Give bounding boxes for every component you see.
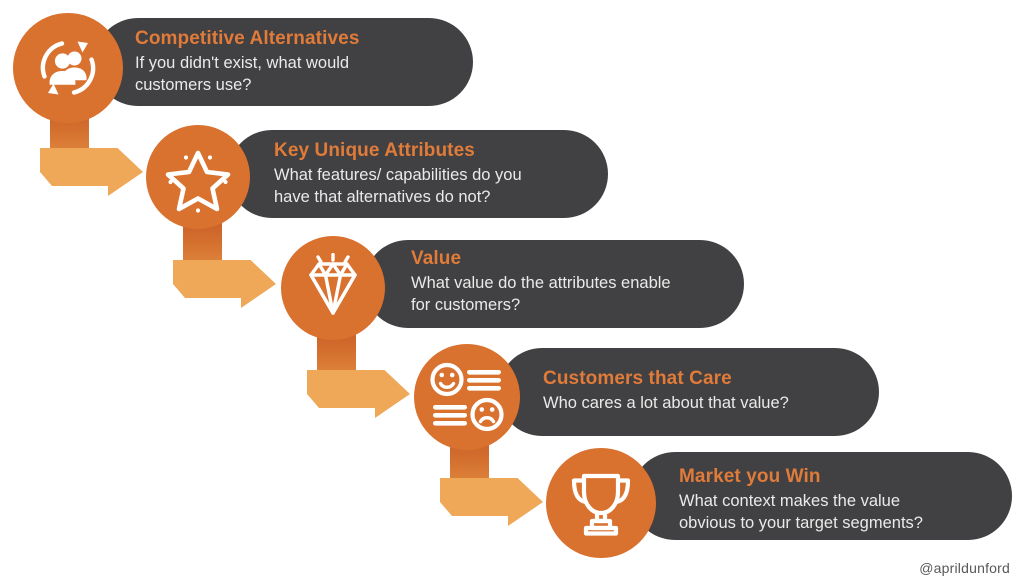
step-badge-2 — [146, 125, 250, 229]
step-title-4: Customers that Care — [543, 368, 873, 390]
step-title-5: Market you Win — [679, 466, 1019, 488]
step-title-2: Key Unique Attributes — [274, 140, 604, 162]
step-body-3: What value do the attributes enable for … — [411, 272, 751, 316]
trophy-icon — [564, 466, 638, 540]
step-badge-3 — [281, 236, 385, 340]
connector-arrow-3 — [307, 370, 410, 418]
step-text-4: Customers that Care Who cares a lot abou… — [543, 368, 873, 414]
step-badge-4 — [414, 344, 520, 450]
step-body-4: Who cares a lot about that value? — [543, 392, 873, 414]
step-title-1: Competitive Alternatives — [135, 28, 465, 50]
author-handle: @aprildunford — [919, 560, 1010, 576]
connector-arrow-1 — [40, 148, 143, 196]
step-text-2: Key Unique Attributes What features/ cap… — [274, 140, 604, 208]
step-badge-5 — [546, 448, 656, 558]
step-body-2: What features/ capabilities do you have … — [274, 164, 604, 208]
step-text-5: Market you Win What context makes the va… — [679, 466, 1019, 534]
diamond-gem-icon — [298, 253, 368, 323]
step-badge-1 — [13, 13, 123, 123]
connector-arrow-2 — [173, 260, 276, 308]
connector-arrow-4 — [440, 478, 543, 526]
step-text-3: Value What value do the attributes enabl… — [411, 248, 751, 316]
step-body-1: If you didn't exist, what would customer… — [135, 52, 465, 96]
step-title-3: Value — [411, 248, 751, 270]
happy-sad-feedback-icon — [429, 361, 505, 433]
star-sparkle-icon — [162, 141, 234, 213]
step-body-5: What context makes the value obvious to … — [679, 490, 1019, 534]
people-refresh-icon — [31, 31, 105, 105]
diagram-canvas: Competitive Alternatives If you didn't e… — [0, 0, 1024, 586]
step-text-1: Competitive Alternatives If you didn't e… — [135, 28, 465, 96]
